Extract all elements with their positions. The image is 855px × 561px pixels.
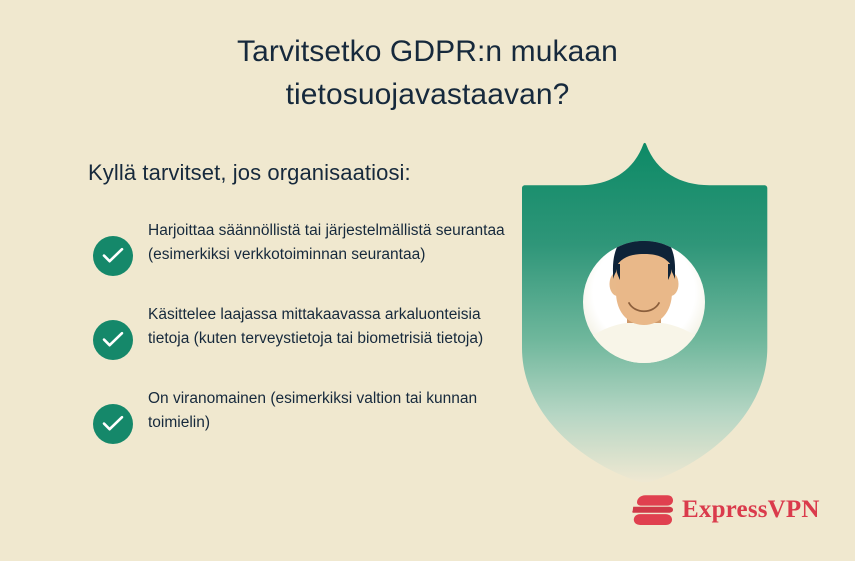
expressvpn-wordmark: ExpressVPN: [682, 497, 820, 523]
list-item-label: Harjoittaa säännöllistä tai järjestelmäl…: [148, 219, 523, 266]
expressvpn-e-mark-icon: [632, 492, 674, 528]
list-item: Käsittelee laajassa mittakaavassa arkalu…: [93, 303, 523, 360]
check-icon: [93, 404, 133, 444]
check-icon: [93, 236, 133, 276]
page-title-line-1: Tarvitsetko GDPR:n mukaan: [0, 30, 855, 73]
subheading: Kyllä tarvitset, jos organisaatiosi:: [88, 160, 411, 186]
page-title-line-2: tietosuojavastaavan?: [0, 73, 855, 116]
list-item-label: Käsittelee laajassa mittakaavassa arkalu…: [148, 303, 523, 350]
list-item-label: On viranomainen (esimerkiksi valtion tai…: [148, 387, 523, 434]
shield-with-person-avatar: [505, 140, 785, 490]
expressvpn-logo[interactable]: ExpressVPN: [632, 492, 820, 528]
list-item: Harjoittaa säännöllistä tai järjestelmäl…: [93, 219, 523, 276]
page-title: Tarvitsetko GDPR:n mukaan tietosuojavast…: [0, 30, 855, 116]
infographic-canvas: Tarvitsetko GDPR:n mukaan tietosuojavast…: [0, 0, 855, 561]
requirements-list: Harjoittaa säännöllistä tai järjestelmäl…: [93, 219, 523, 471]
list-item: On viranomainen (esimerkiksi valtion tai…: [93, 387, 523, 444]
check-icon: [93, 320, 133, 360]
